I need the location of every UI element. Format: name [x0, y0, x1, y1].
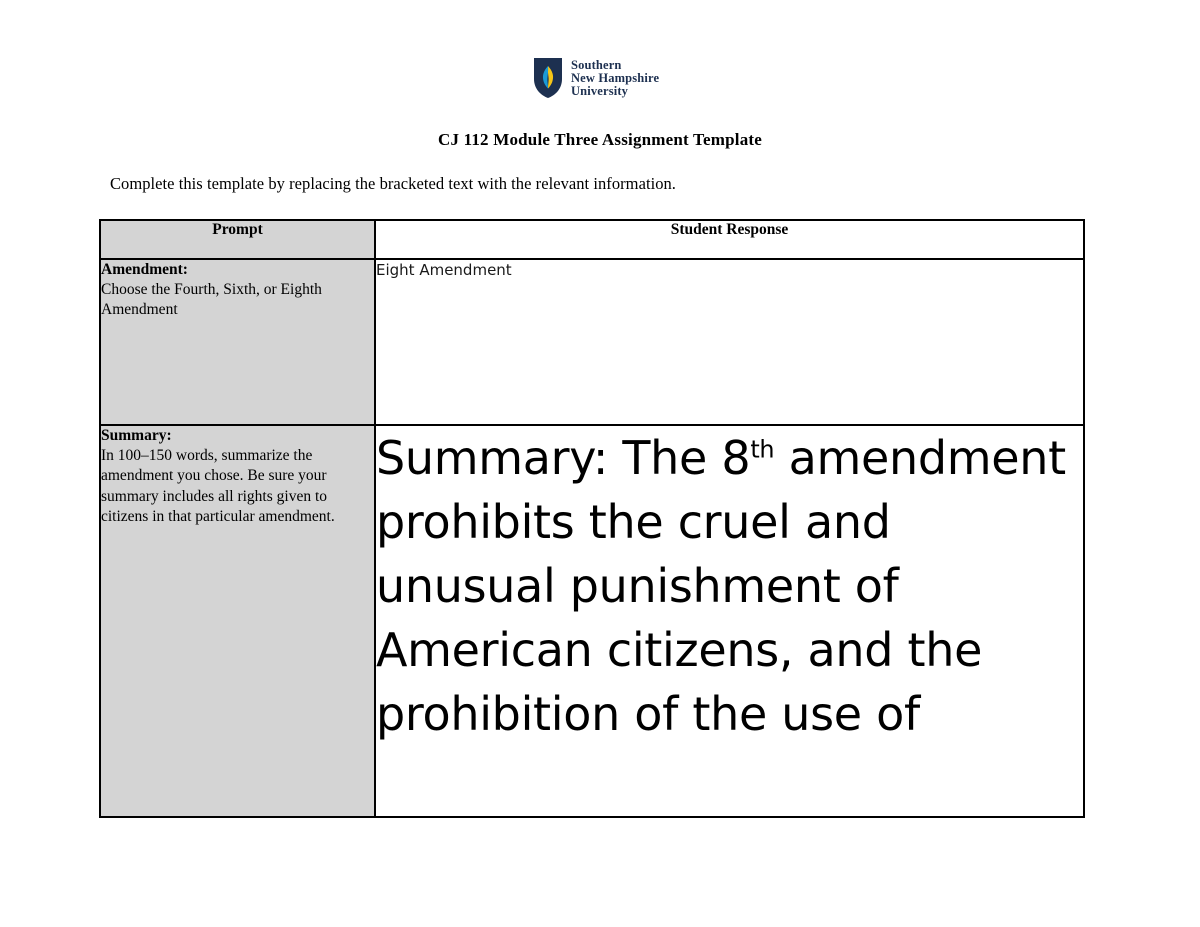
document-title: CJ 112 Module Three Assignment Template — [0, 130, 1200, 150]
response-cell-summary[interactable]: Summary: The 8th amendment prohibits the… — [375, 425, 1084, 817]
column-header-prompt: Prompt — [100, 220, 375, 259]
response-cell-amendment[interactable]: Eight Amendment — [375, 259, 1084, 425]
ordinal-suffix-th: th — [750, 436, 774, 464]
prompt-label-summary: Summary: — [101, 426, 374, 446]
column-header-student-response: Student Response — [375, 220, 1084, 259]
prompt-text-summary: In 100–150 words, summarize the amendmen… — [101, 446, 374, 528]
document-page: Southern New Hampshire University CJ 112… — [0, 0, 1200, 927]
response-clip: Summary: The 8th amendment prohibits the… — [376, 426, 1083, 816]
snhu-shield-icon — [533, 57, 563, 99]
snhu-logo: Southern New Hampshire University — [533, 57, 659, 99]
table-row-amendment: Amendment: Choose the Fourth, Sixth, or … — [100, 259, 1084, 425]
response-text-amendment: Eight Amendment — [376, 260, 1083, 280]
snhu-wordmark: Southern New Hampshire University — [571, 57, 659, 99]
prompt-cell-amendment: Amendment: Choose the Fourth, Sixth, or … — [100, 259, 375, 425]
prompt-label-amendment: Amendment: — [101, 260, 374, 280]
table-header-row: Prompt Student Response — [100, 220, 1084, 259]
logo-line-3: University — [571, 85, 659, 98]
response-summary-part1: Summary: The 8 — [376, 431, 750, 485]
document-instructions: Complete this template by replacing the … — [110, 174, 676, 194]
table-row-summary: Summary: In 100–150 words, summarize the… — [100, 425, 1084, 817]
prompt-text-amendment: Choose the Fourth, Sixth, or Eighth Amen… — [101, 280, 374, 321]
response-text-summary: Summary: The 8th amendment prohibits the… — [376, 426, 1083, 746]
prompt-cell-summary: Summary: In 100–150 words, summarize the… — [100, 425, 375, 817]
assignment-table: Prompt Student Response Amendment: Choos… — [99, 219, 1085, 818]
